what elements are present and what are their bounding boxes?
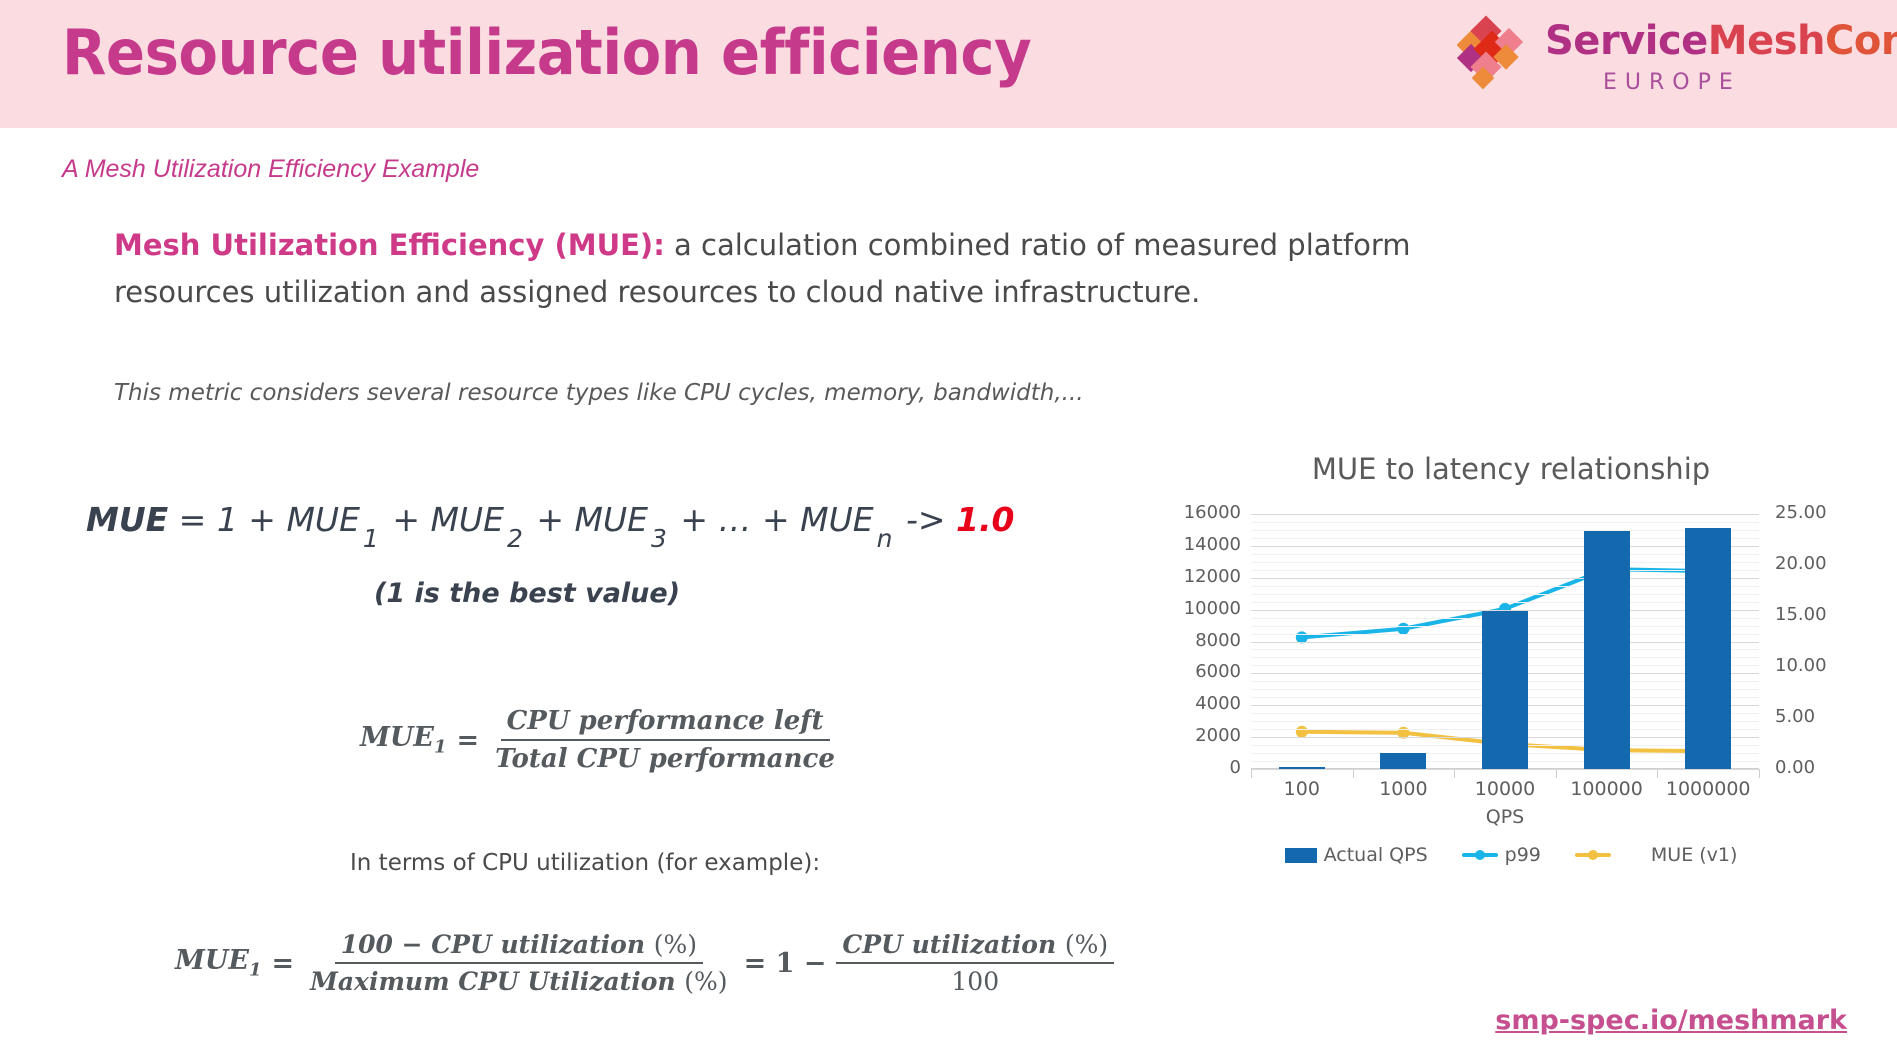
chart-y-tick-left: 14000 (1184, 534, 1241, 555)
mue-latency-chart: MUE to latency relationship 020004000600… (1125, 452, 1897, 962)
metric-note: This metric considers several resource t… (114, 380, 1084, 406)
chart-plot: 0200040006000800010000120001400016000 0.… (1125, 514, 1897, 822)
page-title: Resource utilization efficiency (62, 16, 1031, 89)
best-value-note: (1 is the best value) (374, 578, 680, 609)
chart-y-tick-left: 8000 (1195, 630, 1241, 651)
eq2-denominator-1: Maximum CPU Utilization (%) (304, 964, 733, 996)
legend-label-actual-qps: Actual QPS (1324, 844, 1428, 866)
legend-label-p99: p99 (1505, 844, 1541, 866)
footer-link-meshmark[interactable]: smp-spec.io/meshmark (1495, 1005, 1847, 1036)
slide-subtitle: A Mesh Utilization Efficiency Example (62, 155, 479, 184)
chart-x-tick-mark (1251, 769, 1252, 778)
mue1-cpu-performance-equation: MUE1 = CPU performance left Total CPU pe… (360, 706, 841, 774)
legend-swatch-bar-icon (1285, 848, 1317, 863)
eq1-operator: = (447, 725, 490, 756)
chart-bar[interactable] (1279, 767, 1325, 769)
formula-sub-1: 1 (360, 524, 382, 553)
eq2-numerator-2-text: CPU utilization (842, 930, 1056, 959)
eq1-lhs-text: MUE (360, 722, 434, 753)
eq2-denominator-1-unit: (%) (684, 967, 727, 996)
chart-y-tick-left: 12000 (1184, 566, 1241, 587)
logo-word-mesh: Mesh (1708, 18, 1825, 64)
chart-x-axis-label: QPS (1251, 806, 1759, 828)
eq2-denominator-1-text: Maximum CPU Utilization (310, 967, 675, 996)
formula-eq: = 1 + MUE (168, 500, 360, 539)
logo-word-con: Con (1825, 18, 1897, 64)
chart-gridline (1251, 514, 1759, 515)
eq2-numerator-1-unit: (%) (654, 930, 697, 959)
eq2-operator-2: = 1 − (734, 948, 837, 979)
chart-y-tick-right: 5.00 (1775, 706, 1815, 727)
chart-y-tick-left: 6000 (1195, 661, 1241, 682)
eq2-lhs-text: MUE (175, 945, 249, 976)
chart-y-tick-right: 0.00 (1775, 757, 1815, 778)
chart-y-tick-right: 15.00 (1775, 604, 1827, 625)
legend-label-mue-v1: MUE (v1) (1651, 844, 1738, 866)
chart-y-tick-left: 4000 (1195, 693, 1241, 714)
chart-bar[interactable] (1380, 753, 1426, 769)
chart-x-tick-mark (1657, 769, 1658, 778)
formula-sub-2: 2 (504, 524, 526, 553)
chart-y-tick-right: 25.00 (1775, 502, 1827, 523)
chart-x-tick-mark (1353, 769, 1354, 778)
eq2-fraction-2: CPU utilization (%) 100 (836, 930, 1114, 996)
legend-item-actual-qps[interactable]: Actual QPS (1285, 844, 1428, 866)
eq2-numerator-2-unit: (%) (1065, 930, 1108, 959)
legend-item-mue-v1[interactable]: MUE (v1) (1575, 844, 1738, 866)
eq1-lhs: MUE1 (360, 722, 447, 757)
chart-gridline-minor (1251, 562, 1759, 563)
formula-lhs: MUE (86, 500, 168, 539)
chart-y-tick-right: 10.00 (1775, 655, 1827, 676)
chart-y-tick-right: 20.00 (1775, 553, 1827, 574)
equation-caption: In terms of CPU utilization (for example… (350, 850, 820, 876)
definition-lead: Mesh Utilization Efficiency (MUE): (114, 228, 665, 262)
eq1-fraction: CPU performance left Total CPU performan… (489, 706, 841, 774)
legend-item-p99[interactable]: p99 (1462, 844, 1541, 866)
eq2-lhs-subscript: 1 (249, 960, 262, 981)
formula-arrow: -> (895, 500, 956, 539)
eq2-denominator-2: 100 (945, 964, 1005, 996)
chart-y-tick-left: 16000 (1184, 502, 1241, 523)
eq2-numerator-1-text: 100 − CPU utilization (341, 930, 645, 959)
chart-gridline (1251, 769, 1759, 770)
chart-bar[interactable] (1482, 611, 1528, 769)
legend-swatch-line-mue-icon (1575, 848, 1611, 862)
chart-y-tick-left: 10000 (1184, 598, 1241, 619)
chart-gridline (1251, 546, 1759, 547)
chart-legend: Actual QPS p99 MUE (v1) (1125, 844, 1897, 866)
mue-sum-formula: MUE = 1 + MUE1 + MUE2 + MUE3 + … + MUEn … (86, 500, 1014, 539)
eq2-fraction-1: 100 − CPU utilization (%) Maximum CPU Ut… (304, 930, 733, 996)
mue1-cpu-utilization-equation: MUE1 = 100 − CPU utilization (%) Maximum… (175, 930, 1114, 996)
logo-region-label: EUROPE (1603, 70, 1741, 95)
eq2-operator-1: = (262, 948, 305, 979)
legend-swatch-line-p99-icon (1462, 848, 1498, 862)
eq2-numerator-1: 100 − CPU utilization (%) (335, 930, 703, 964)
formula-term-n: + … + MUE (670, 500, 874, 539)
eq2-numerator-2: CPU utilization (%) (836, 930, 1114, 964)
formula-term-3: + MUE (526, 500, 648, 539)
formula-sub-n: n (874, 524, 896, 553)
chart-gridline-minor (1251, 530, 1759, 531)
definition-paragraph: Mesh Utilization Efficiency (MUE): a cal… (114, 222, 1444, 316)
chart-x-tick-mark (1759, 769, 1760, 778)
chart-gridline-minor (1251, 522, 1759, 523)
formula-goal-value: 1.0 (956, 500, 1014, 539)
chart-x-tick-label: 1000000 (1648, 778, 1768, 800)
chart-gridline-minor (1251, 602, 1759, 603)
logo-word-service: Service (1545, 18, 1708, 64)
chart-gridline-minor (1251, 538, 1759, 539)
chart-title: MUE to latency relationship (1125, 452, 1897, 486)
chart-y-tick-left: 0 (1230, 757, 1241, 778)
chart-x-tick-mark (1556, 769, 1557, 778)
chart-y-tick-left: 2000 (1195, 725, 1241, 746)
chart-gridline-minor (1251, 586, 1759, 587)
eq1-denominator: Total CPU performance (489, 741, 841, 774)
servicemeshcon-logo: ServiceMeshCon EUROPE (1437, 8, 1857, 112)
chart-gridline (1251, 578, 1759, 579)
eq1-lhs-subscript: 1 (434, 737, 447, 758)
eq1-numerator: CPU performance left (501, 706, 830, 741)
logo-wordmark: ServiceMeshCon (1545, 18, 1897, 64)
chart-bar[interactable] (1584, 531, 1630, 769)
chart-bar[interactable] (1685, 528, 1731, 769)
chart-x-tick-mark (1454, 769, 1455, 778)
eq2-lhs: MUE1 (175, 945, 262, 980)
chart-gridline-minor (1251, 570, 1759, 571)
chart-gridline-minor (1251, 594, 1759, 595)
logo-diamond-icon (1457, 12, 1533, 92)
chart-data-point[interactable] (1296, 726, 1308, 738)
formula-sub-3: 3 (648, 524, 670, 553)
formula-term-2: + MUE (382, 500, 504, 539)
chart-gridline-minor (1251, 554, 1759, 555)
